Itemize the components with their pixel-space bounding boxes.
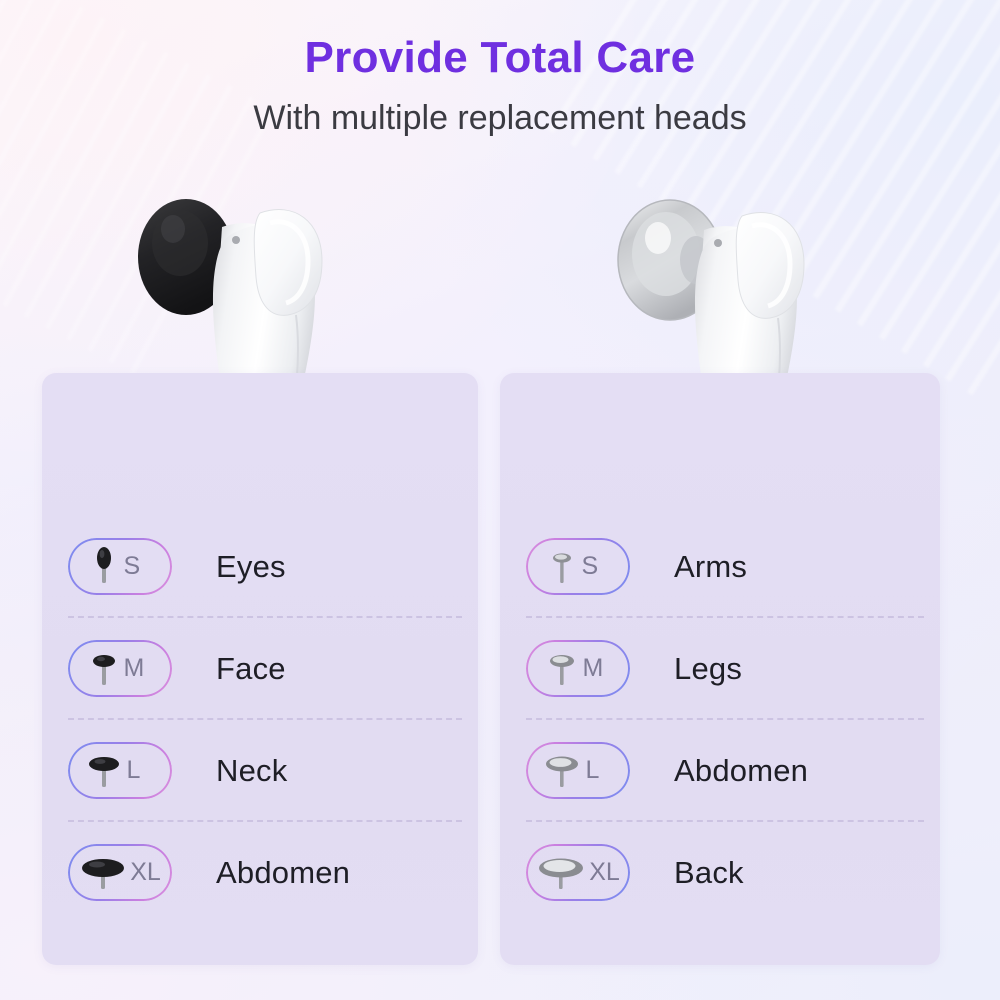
zone-label: Abdomen [216,857,350,888]
head-row[interactable]: M Legs [526,625,922,711]
head-row[interactable]: XL Abdomen [68,829,460,915]
size-pill-l[interactable]: L [526,742,630,799]
head-l-icon [541,749,583,791]
size-label: M [124,656,154,681]
size-pill-m[interactable]: M [526,640,630,697]
size-label: L [127,758,157,783]
head-s-icon [545,545,579,587]
head-row[interactable]: L Abdomen [526,727,922,813]
size-pill-xl[interactable]: XL [68,844,172,901]
size-label: XL [589,860,620,885]
size-pill-s[interactable]: S [68,538,172,595]
head-row[interactable]: S Arms [526,523,922,609]
page-subtitle: With multiple replacement heads [0,98,1000,139]
head-row[interactable]: M Face [68,625,460,711]
head-xl-icon [536,851,586,893]
size-label: XL [130,860,161,885]
size-pill-s[interactable]: S [526,538,630,595]
size-label: S [582,554,612,579]
zone-label: Abdomen [674,755,808,786]
head-m-icon [87,647,121,689]
zone-label: Legs [674,653,742,684]
head-xl-icon [79,851,127,893]
head-m-icon [544,647,580,689]
promo-graphic: Provide Total Care With multiple replace… [0,0,1000,1000]
zone-label: Back [674,857,744,888]
size-pill-m[interactable]: M [68,640,172,697]
silver-heads-card: S Arms M Legs [500,373,940,965]
size-pill-xl[interactable]: XL [526,844,630,901]
size-label: L [586,758,616,783]
size-label: S [124,554,154,579]
zone-label: Eyes [216,551,286,582]
head-row[interactable]: L Neck [68,727,460,813]
size-pill-l[interactable]: L [68,742,172,799]
head-row[interactable]: XL Back [526,829,922,915]
black-heads-card: S Eyes M Face [42,373,478,965]
page-title: Provide Total Care [0,34,1000,82]
head-row[interactable]: S Eyes [68,523,460,609]
zone-label: Arms [674,551,747,582]
head-l-icon [84,749,124,791]
zone-label: Neck [216,755,287,786]
head-s-icon [87,545,121,587]
size-label: M [583,656,613,681]
zone-label: Face [216,653,286,684]
